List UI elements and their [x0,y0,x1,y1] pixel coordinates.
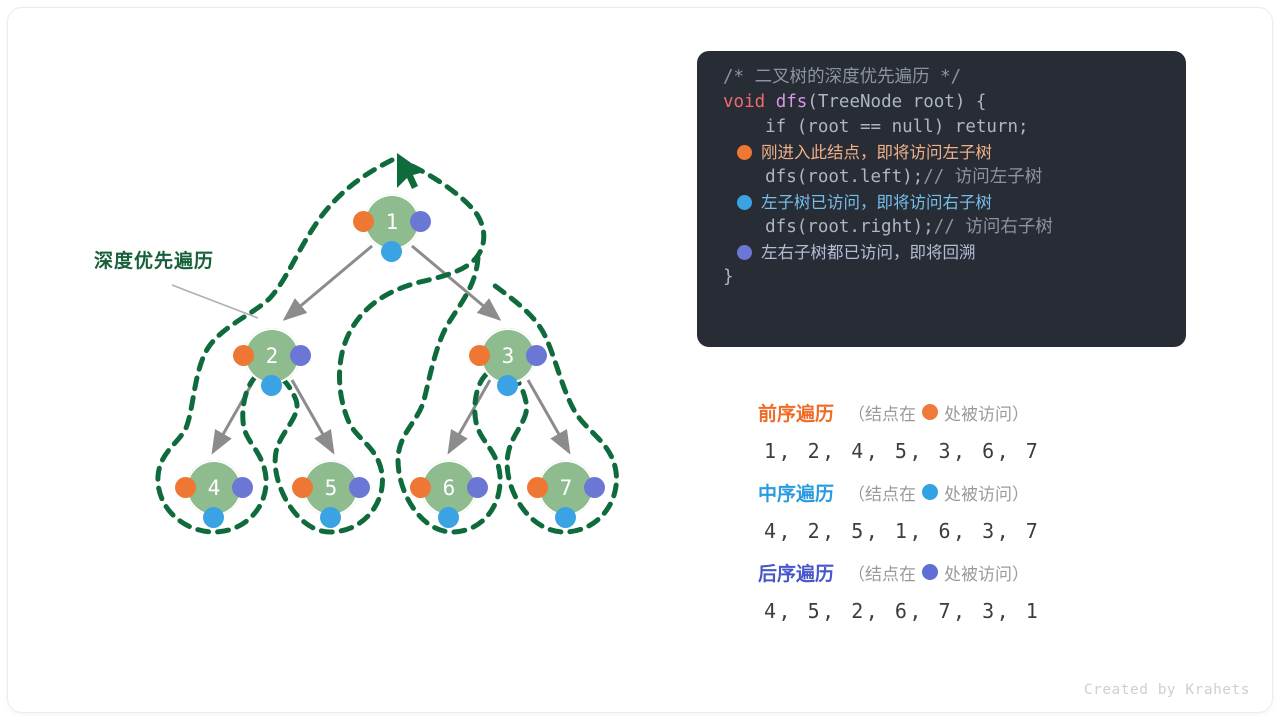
code-dfs-left-comment: // 访问左子树 [923,167,1042,187]
play-cursor-icon [397,153,424,189]
tree-node-5[interactable]: 5 [303,460,359,516]
result-preorder-title: 前序遍历 [758,399,834,426]
postorder-dot [922,564,938,580]
code-comment-header: /* 二叉树的深度优先遍历 */ [723,67,961,87]
tree-node-7-label: 7 [538,460,594,516]
tree-node-6[interactable]: 6 [421,460,477,516]
result-inorder-note-prefix: （结点在 [848,480,916,505]
code-closing-brace: } [723,267,734,287]
result-postorder-head: 后序遍历 （结点在 处被访问） [758,556,1188,588]
result-preorder-sequence: 1, 2, 4, 5, 3, 6, 7 [758,428,1188,474]
inorder-marker-dot [737,195,752,210]
code-null-guard-line: if (root == null) return; [723,117,1029,137]
postorder-marker-dot [737,245,752,260]
result-postorder-note: （结点在 处被访问） [848,560,1029,585]
preorder-dot [922,404,938,420]
code-snippet-panel: /* 二叉树的深度优先遍历 */ void dfs(TreeNode root)… [697,51,1186,347]
tree-node-3[interactable]: 3 [480,328,536,384]
tree-node-2[interactable]: 2 [244,328,300,384]
annotation-preorder-text: 刚进入此结点，即将访问左子树 [761,140,992,165]
result-postorder-note-suffix: 处被访问） [944,560,1029,585]
result-preorder-note-suffix: 处被访问） [944,400,1029,425]
tree-node-1-label: 1 [364,194,420,250]
tree-node-2-label: 2 [244,328,300,384]
inorder-dot [922,484,938,500]
binary-tree-diagram: 深度优先遍历 1 2 3 4 [8,8,688,712]
code-function-name: dfs [776,92,808,112]
code-signature-rest: (TreeNode root) { [807,92,986,112]
result-inorder: 中序遍历 （结点在 处被访问） 4, 2, 5, 1, 6, 3, 7 [758,476,1188,554]
label-leader-line [172,285,258,318]
tree-node-6-label: 6 [421,460,477,516]
preorder-marker-dot [737,145,752,160]
tree-node-3-label: 3 [480,328,536,384]
result-inorder-note: （结点在 处被访问） [848,480,1029,505]
annotation-inorder-text: 左子树已访问，即将访问右子树 [761,190,992,215]
result-postorder-title: 后序遍历 [758,559,834,586]
code-keyword-void: void [723,92,765,112]
result-preorder: 前序遍历 （结点在 处被访问） 1, 2, 4, 5, 3, 6, 7 [758,396,1188,474]
traversal-results: 前序遍历 （结点在 处被访问） 1, 2, 4, 5, 3, 6, 7 中序遍历… [758,396,1188,636]
result-preorder-head: 前序遍历 （结点在 处被访问） [758,396,1188,428]
dfs-label: 深度优先遍历 [94,246,214,273]
result-postorder-sequence: 4, 5, 2, 6, 7, 3, 1 [758,588,1188,634]
result-preorder-note-prefix: （结点在 [848,400,916,425]
tree-node-7[interactable]: 7 [538,460,594,516]
watermark-credit: Created by Krahets [1084,682,1250,698]
tree-node-4[interactable]: 4 [186,460,242,516]
result-inorder-title: 中序遍历 [758,479,834,506]
result-preorder-note: （结点在 处被访问） [848,400,1029,425]
tree-node-1[interactable]: 1 [364,194,420,250]
tree-graphics [8,8,688,712]
tree-node-5-label: 5 [303,460,359,516]
result-postorder-note-prefix: （结点在 [848,560,916,585]
annotation-postorder-text: 左右子树都已访问，即将回溯 [761,240,976,265]
code-dfs-right-comment: // 访问右子树 [934,217,1053,237]
figure-canvas: 深度优先遍历 1 2 3 4 [8,8,1272,712]
code-dfs-right-line: dfs(root.right); [723,217,934,237]
result-inorder-sequence: 4, 2, 5, 1, 6, 3, 7 [758,508,1188,554]
annotation-preorder: 刚进入此结点，即将访问左子树 [723,140,1162,165]
code-dfs-left-line: dfs(root.left); [723,167,923,187]
annotation-postorder: 左右子树都已访问，即将回溯 [723,240,1162,265]
result-inorder-head: 中序遍历 （结点在 处被访问） [758,476,1188,508]
annotation-inorder: 左子树已访问，即将访问右子树 [723,190,1162,215]
result-inorder-note-suffix: 处被访问） [944,480,1029,505]
result-postorder: 后序遍历 （结点在 处被访问） 4, 5, 2, 6, 7, 3, 1 [758,556,1188,634]
tree-node-4-label: 4 [186,460,242,516]
